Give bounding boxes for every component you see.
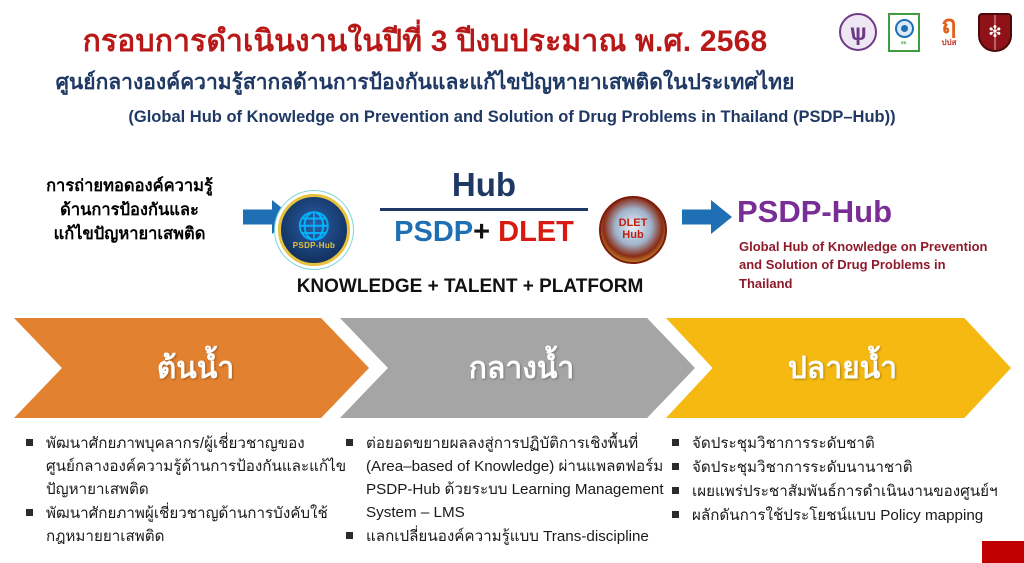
- list-item: พัฒนาศักยภาพผู้เชี่ยวชาญด้านการบังคับใช้…: [22, 502, 352, 548]
- formula-psdp: PSDP: [394, 216, 473, 248]
- green-agency-logo-inner: สธ.: [890, 15, 918, 50]
- list-item: เผยแพร่ประชาสัมพันธ์การดำเนินงานของศูนย์…: [668, 480, 1018, 503]
- star-icon: ❇: [988, 22, 1001, 42]
- green-agency-logo: สธ.: [888, 13, 920, 52]
- right-arrow-icon-2: [682, 200, 732, 234]
- hub-formula: PSDP+ DLET: [372, 216, 596, 249]
- bullet-column-downstream: จัดประชุมวิชาการระดับชาติ จัดประชุมวิชาก…: [668, 432, 1018, 528]
- chevron-midstream-label: กลางน้ำ: [469, 345, 574, 392]
- list-item: จัดประชุมวิชาการระดับนานาชาติ: [668, 456, 1018, 479]
- chevron-downstream: ปลายน้ำ: [666, 318, 1011, 418]
- chevron-midstream: กลางน้ำ: [340, 318, 695, 418]
- globe-book-icon: 🌐: [297, 213, 331, 240]
- bullet-list-upstream: พัฒนาศักยภาพบุคลากร/ผู้เชี่ยวชาญของศูนย์…: [22, 432, 352, 548]
- result-title: PSDP-Hub: [737, 194, 892, 230]
- bullet-list-downstream: จัดประชุมวิชาการระดับชาติ จัดประชุมวิชาก…: [668, 432, 1018, 527]
- thai-glyph-icon: ฤ: [941, 15, 956, 36]
- bullet-column-midstream: ต่อยอดขยายผลลงสู่การปฏิบัติการเชิงพื้นที…: [342, 432, 672, 549]
- hub-divider: [380, 208, 588, 211]
- knowledge-talent-platform-line: KNOWLEDGE + TALENT + PLATFORM: [230, 276, 710, 298]
- page-title-line3: (Global Hub of Knowledge on Prevention a…: [0, 108, 1024, 127]
- knowledge-transfer-caption: การถ่ายทอดองค์ความรู้ด้านการป้องกันและแก…: [22, 175, 237, 247]
- list-item: พัฒนาศักยภาพบุคลากร/ผู้เชี่ยวชาญของศูนย์…: [22, 432, 352, 501]
- wheel-icon: [895, 19, 914, 38]
- slide-header: กรอบการดำเนินงานในปีที่ 3 ปีงบประมาณ พ.ศ…: [0, 0, 1024, 148]
- bullet-columns: พัฒนาศักยภาพบุคลากร/ผู้เชี่ยวชาญของศูนย์…: [0, 432, 1024, 563]
- list-item: แลกเปลี่ยนองค์ความรู้แบบ Trans-disciplin…: [342, 525, 672, 548]
- dlet-hub-logo: DLET Hub: [599, 196, 667, 264]
- page-title-line2: ศูนย์กลางองค์ความรู้สากลด้านการป้องกันแล…: [0, 66, 850, 99]
- red-shield-logo: ❇: [978, 13, 1012, 52]
- trident-icon: ѱ: [849, 21, 866, 44]
- chevron-upstream: ต้นน้ำ: [14, 318, 369, 418]
- list-item: ผลักดันการใช้ประโยชน์แบบ Policy mapping: [668, 504, 1018, 527]
- list-item: จัดประชุมวิชาการระดับชาติ: [668, 432, 1018, 455]
- result-subtitle: Global Hub of Knowledge on Prevention an…: [739, 238, 989, 293]
- hub-word: Hub: [380, 166, 588, 204]
- bullet-list-midstream: ต่อยอดขยายผลลงสู่การปฏิบัติการเชิงพื้นที…: [342, 432, 672, 548]
- thai-logo-caption: ปปส: [941, 36, 956, 49]
- bullet-column-upstream: พัฒนาศักยภาพบุคลากร/ผู้เชี่ยวชาญของศูนย์…: [22, 432, 352, 549]
- dlet-logo-line2: Hub: [622, 230, 643, 242]
- phase-chevron-row: ต้นน้ำ กลางน้ำ ปลายน้ำ: [0, 318, 1024, 418]
- mahidol-university-logo: ѱ: [839, 13, 877, 51]
- formula-plus: +: [473, 216, 490, 248]
- psdp-hub-logo: 🌐 PSDP-Hub: [278, 194, 350, 266]
- psdp-hub-logo-label: PSDP-Hub: [293, 241, 335, 250]
- hub-diagram: การถ่ายทอดองค์ความรู้ด้านการป้องกันและแก…: [0, 150, 1024, 310]
- chevron-upstream-label: ต้นน้ำ: [157, 345, 234, 392]
- green-agency-logo-caption: สธ.: [901, 39, 907, 46]
- logo-row: ѱ สธ. ฤ ปปส ❇: [839, 12, 1012, 52]
- red-corner-mark: [982, 541, 1024, 563]
- chevron-downstream-label: ปลายน้ำ: [788, 345, 897, 392]
- thai-script-logo: ฤ ปปส: [931, 12, 967, 52]
- page-title-line1: กรอบการดำเนินงานในปีที่ 3 ปีงบประมาณ พ.ศ…: [0, 18, 850, 65]
- list-item: ต่อยอดขยายผลลงสู่การปฏิบัติการเชิงพื้นที…: [342, 432, 672, 524]
- formula-dlet: DLET: [498, 216, 574, 248]
